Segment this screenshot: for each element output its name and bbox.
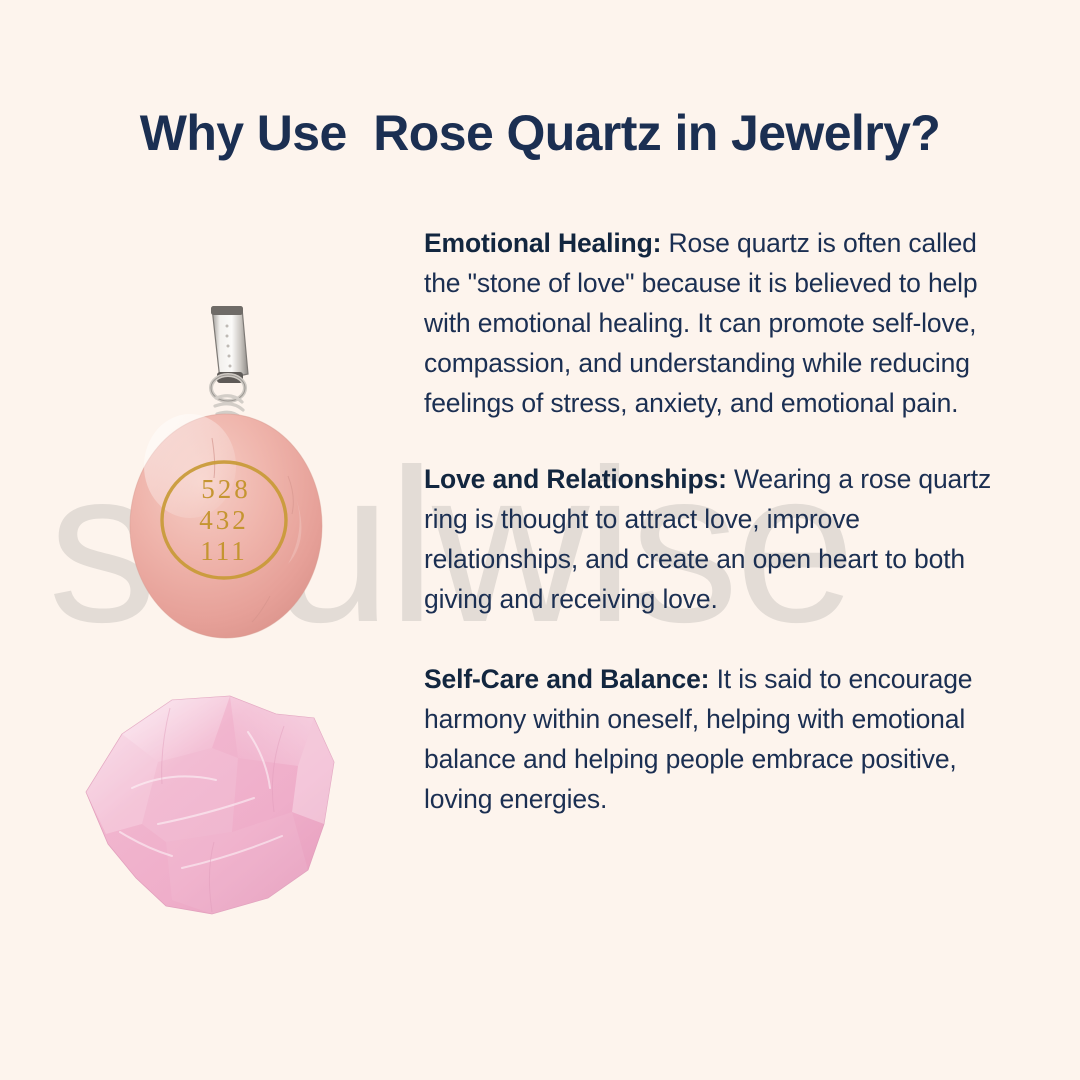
infographic-canvas: soulwise Why Use Rose Quartz in Jewelry? (0, 0, 1080, 1080)
engraving-line-2: 432 (199, 505, 249, 535)
section-lead: Emotional Healing: (424, 228, 661, 258)
page-title: Why Use Rose Quartz in Jewelry? (0, 104, 1080, 162)
section-emotional-healing: Emotional Healing: Rose quartz is often … (424, 223, 1012, 423)
section-self-care-and-balance: Self-Care and Balance: It is said to enc… (424, 659, 1012, 819)
engraving-line-3: 111 (200, 536, 248, 566)
section-lead: Love and Relationships: (424, 464, 727, 494)
pendant-bail (211, 306, 248, 401)
raw-rose-quartz-image (62, 692, 362, 922)
raw-crystal-body (86, 696, 334, 914)
section-lead: Self-Care and Balance: (424, 664, 709, 694)
rose-quartz-pendant-image: 528 432 111 (120, 296, 340, 656)
engraving-numbers: 528 432 111 (199, 474, 251, 566)
content-column: Emotional Healing: Rose quartz is often … (424, 196, 1012, 845)
engraving-line-1: 528 (201, 474, 251, 504)
section-love-and-relationships: Love and Relationships: Wearing a rose q… (424, 459, 1012, 619)
